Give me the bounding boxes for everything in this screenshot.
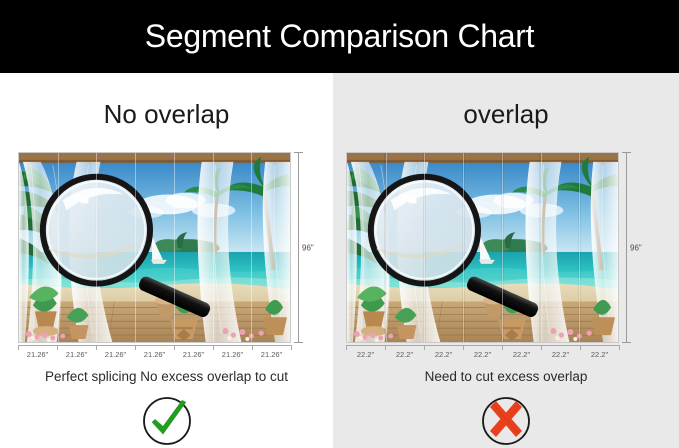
ruler-labels-right: 22.2" 22.2" 22.2" 22.2" 22.2" 22.2" 22.2… [346,350,619,359]
beach-mural-illustration [19,153,290,342]
height-label-right: 96" [630,243,642,252]
segment-label: 22.2" [463,350,502,359]
check-mark-icon [141,395,193,447]
segment-label: 21.26" [135,350,174,359]
segment-label: 22.2" [502,350,541,359]
mural-figure-right [346,152,619,343]
height-dimension-cap-top [294,152,303,153]
height-label-left: 96" [302,243,314,252]
ruler-baseline [346,345,619,346]
segment-label: 22.2" [541,350,580,359]
verdict-left [0,395,333,447]
verdict-right [333,395,679,447]
height-dimension-line [626,152,627,343]
segment-label: 21.26" [213,350,252,359]
mural-image-left [18,152,291,343]
segment-label: 21.26" [57,350,96,359]
panel-heading-left: No overlap [0,99,333,130]
panel-no-overlap: No overlap [0,73,333,448]
ruler-baseline [18,345,291,346]
cross-mark-icon [480,395,532,447]
title-band: Segment Comparison Chart [0,0,679,73]
segment-label: 22.2" [385,350,424,359]
comparison-panels: No overlap [0,73,679,448]
width-ruler-right: 22.2" 22.2" 22.2" 22.2" 22.2" 22.2" 22.2… [346,345,619,367]
mural-image-right [346,152,619,343]
height-dimension-right: 96" [621,152,647,343]
ruler-labels-left: 21.26" 21.26" 21.26" 21.26" 21.26" 21.26… [18,350,291,359]
segment-label: 21.26" [174,350,213,359]
segment-label: 22.2" [346,350,385,359]
caption-left: Perfect splicing No excess overlap to cu… [0,369,333,384]
ruler-tick [619,345,620,350]
width-ruler-left: 21.26" 21.26" 21.26" 21.26" 21.26" 21.26… [18,345,291,367]
caption-right: Need to cut excess overlap [333,369,679,384]
panel-overlap: overlap [333,73,679,448]
panel-heading-right: overlap [333,99,679,130]
beach-mural-illustration [347,153,618,342]
height-dimension-line [298,152,299,343]
segment-label: 21.26" [252,350,291,359]
height-dimension-cap-top [622,152,631,153]
height-dimension-left: 96" [293,152,319,343]
segment-label: 22.2" [424,350,463,359]
height-dimension-cap-bottom [294,342,303,343]
segment-label: 21.26" [96,350,135,359]
mural-figure-left [18,152,291,343]
ruler-tick [291,345,292,350]
page-title: Segment Comparison Chart [145,18,534,55]
segment-label: 21.26" [18,350,57,359]
segment-label: 22.2" [580,350,619,359]
height-dimension-cap-bottom [622,342,631,343]
